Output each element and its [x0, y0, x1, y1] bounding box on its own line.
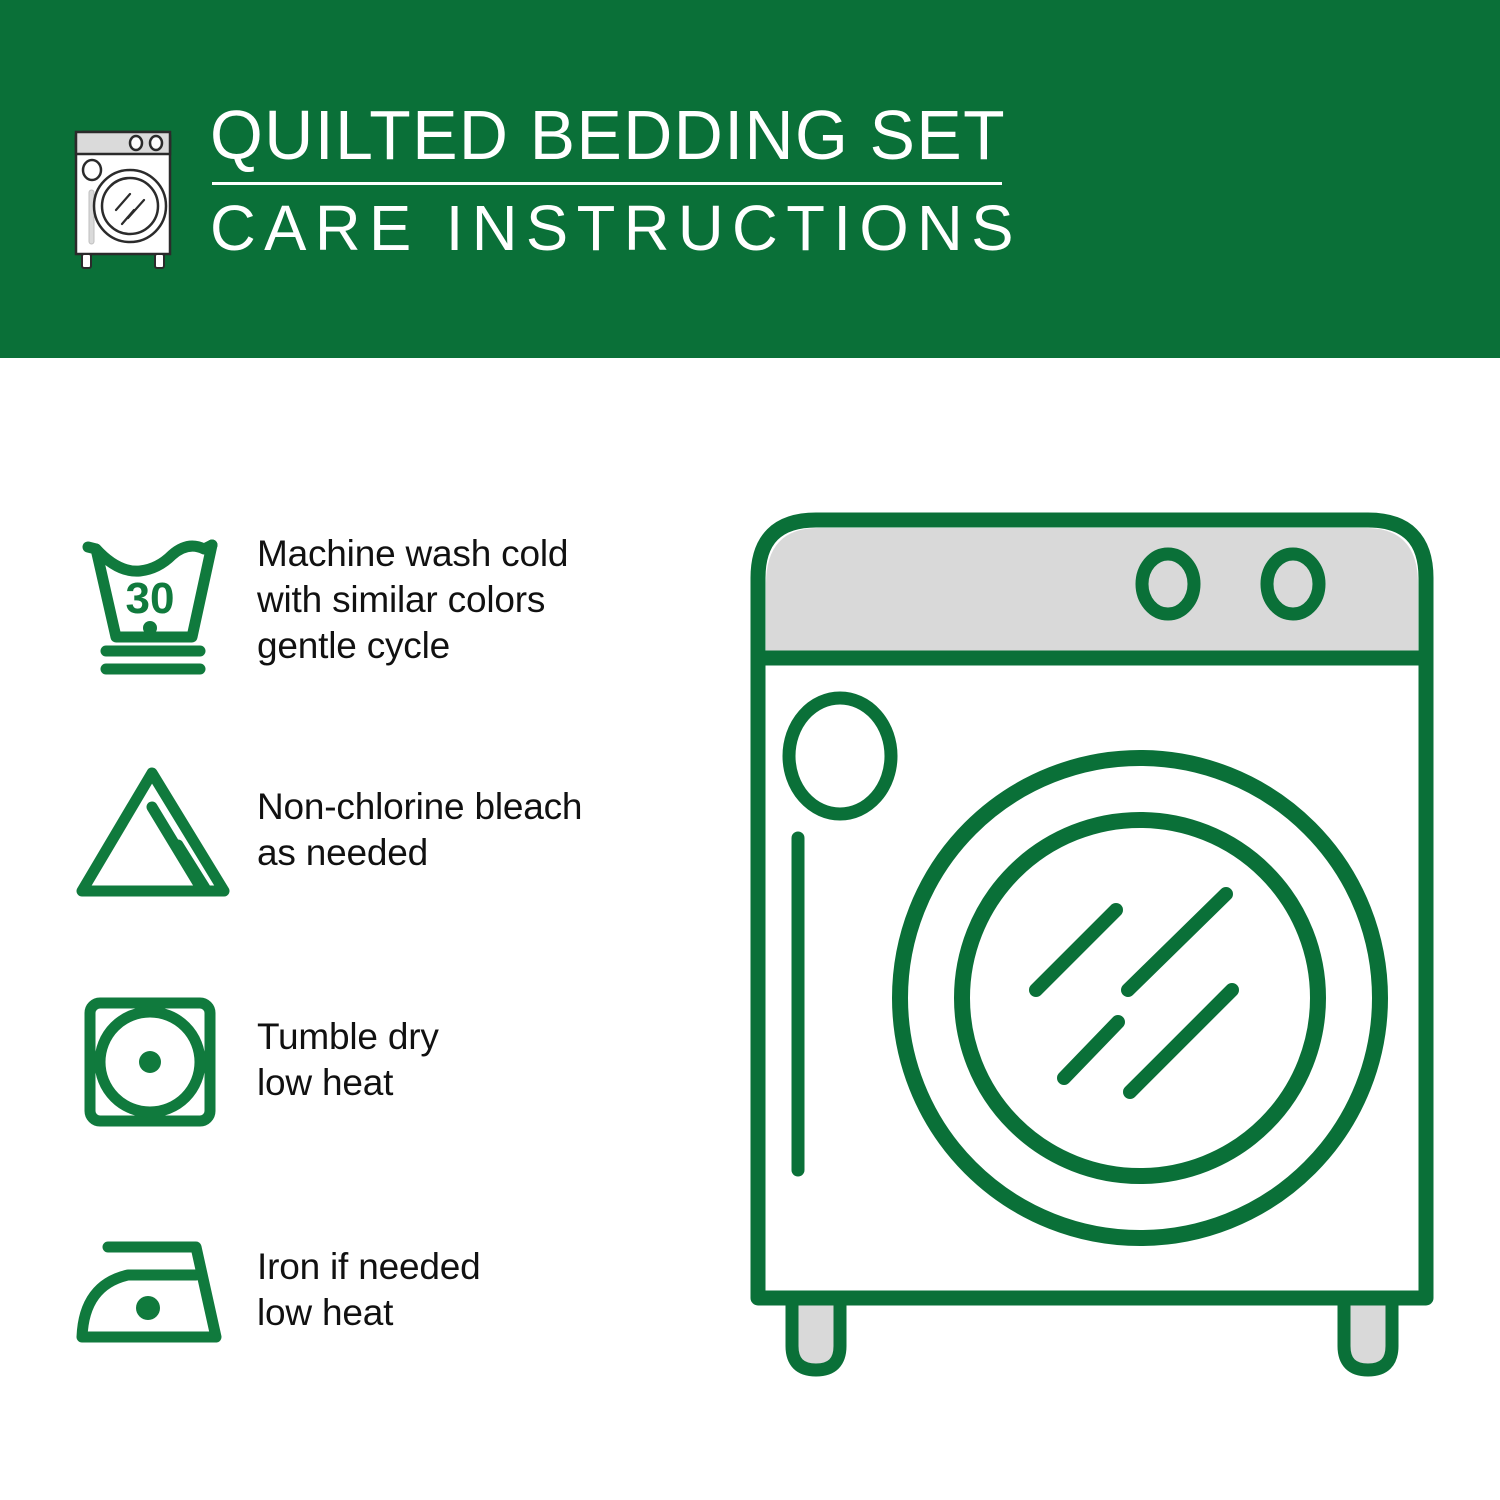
care-row-bleach: Non-chlorine bleach as needed	[70, 740, 710, 920]
wash-temperature-value: 30	[126, 574, 175, 623]
care-text-line: gentle cycle	[257, 623, 568, 669]
title-divider	[212, 182, 1002, 185]
care-row-tumble-dry: Tumble dry low heat	[70, 970, 710, 1150]
care-text-bleach: Non-chlorine bleach as needed	[257, 784, 582, 876]
header-banner: QUILTED BEDDING SET CARE INSTRUCTIONS	[0, 0, 1500, 358]
care-text-wash: Machine wash cold with similar colors ge…	[257, 531, 568, 669]
care-row-wash: 30 Machine wash cold with similar colors…	[70, 510, 710, 690]
header-content: QUILTED BEDDING SET CARE INSTRUCTIONS	[58, 96, 1058, 276]
care-text-line: Tumble dry	[257, 1014, 439, 1060]
page-title: QUILTED BEDDING SET	[210, 98, 1006, 172]
care-row-iron: Iron if needed low heat	[70, 1200, 710, 1380]
care-text-line: Machine wash cold	[257, 531, 568, 577]
care-text-line: as needed	[257, 830, 582, 876]
care-text-line: Non-chlorine bleach	[257, 784, 582, 830]
content-area: 30 Machine wash cold with similar colors…	[0, 358, 1500, 1500]
tumble-dry-low-heat-icon	[70, 985, 245, 1135]
care-text-line: low heat	[257, 1290, 480, 1336]
care-text-line: with similar colors	[257, 577, 568, 623]
care-text-iron: Iron if needed low heat	[257, 1244, 480, 1336]
page-subtitle: CARE INSTRUCTIONS	[210, 193, 1022, 263]
iron-low-heat-icon	[70, 1215, 245, 1365]
wash-tub-30-gentle-icon: 30	[70, 525, 245, 675]
header-titles: QUILTED BEDDING SET CARE INSTRUCTIONS	[210, 96, 1031, 263]
washing-machine-icon	[58, 106, 188, 274]
front-load-washing-machine-illustration	[740, 498, 1460, 1438]
care-text-line: Iron if needed	[257, 1244, 480, 1290]
care-text-line: low heat	[257, 1060, 439, 1106]
care-text-tumble-dry: Tumble dry low heat	[257, 1014, 439, 1106]
care-instruction-list: 30 Machine wash cold with similar colors…	[70, 510, 710, 1380]
non-chlorine-bleach-triangle-icon	[70, 755, 245, 905]
